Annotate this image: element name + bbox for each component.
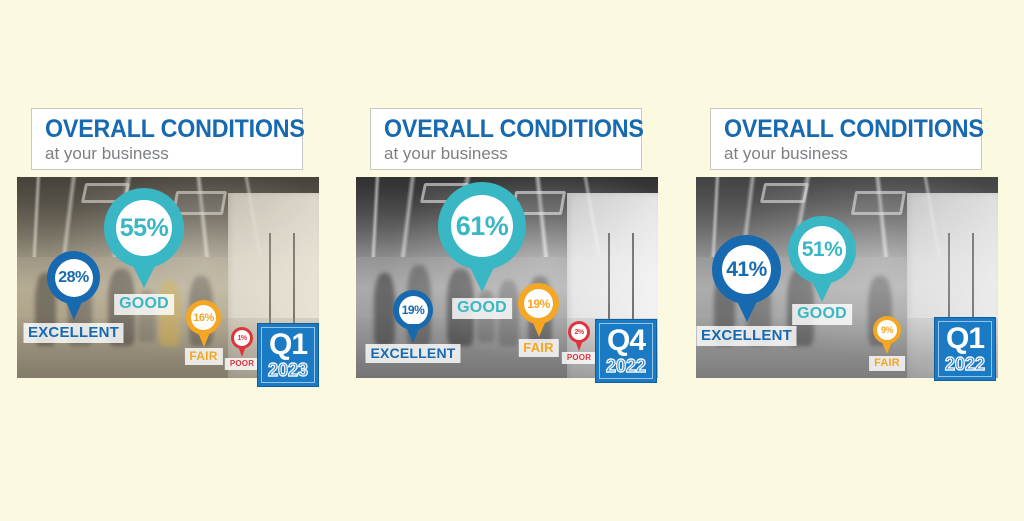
marker-value: 9%: [877, 320, 897, 340]
marker-value: 19%: [399, 296, 428, 325]
pin-bulb: 61%: [438, 182, 526, 270]
marker-label: GOOD: [792, 304, 852, 325]
pin-bulb: 51%: [788, 216, 856, 284]
map-pin-icon: 2%: [568, 321, 590, 343]
quarter-badge-inner: Q1 2022: [938, 321, 992, 377]
pin-tail: [531, 318, 547, 337]
quarter-badge: Q1 2022: [934, 317, 996, 381]
marker-good[interactable]: 61% GOOD: [438, 182, 526, 270]
marker-value: 1%: [234, 330, 250, 346]
year-label: 2023: [268, 361, 308, 379]
quarter-badge-inner: Q4 2022: [599, 323, 653, 379]
panel-q1-2023: OVERALL CONDITIONS at your business 55% …: [16, 108, 336, 393]
marker-value: 19%: [524, 289, 553, 318]
marker-good[interactable]: 55% GOOD: [104, 188, 184, 268]
pin-tail: [881, 340, 893, 354]
quarter-label: Q4: [607, 326, 645, 356]
map-pin-icon: 41%: [712, 235, 781, 304]
marker-label: POOR: [225, 358, 259, 370]
page-subtitle: at your business: [45, 143, 290, 164]
pin-tail: [64, 297, 84, 320]
pin-tail: [809, 275, 835, 302]
marker-label: POOR: [562, 352, 596, 364]
pin-tail: [197, 330, 211, 347]
map-pin-icon: 19%: [518, 283, 559, 324]
map-pin-icon: 55%: [104, 188, 184, 268]
marker-label: FAIR: [184, 348, 222, 365]
marker-excellent[interactable]: 19% EXCELLENT: [393, 290, 433, 330]
panel-title-card: OVERALL CONDITIONS at your business: [710, 108, 982, 170]
marker-fair[interactable]: 16% FAIR: [186, 300, 221, 335]
marker-poor[interactable]: 1% POOR: [231, 327, 253, 349]
pin-tail: [466, 259, 498, 292]
pin-tail: [129, 258, 159, 288]
quarter-badge-inner: Q1 2023: [261, 327, 315, 383]
marker-good[interactable]: 51% GOOD: [788, 216, 856, 284]
marker-value: 28%: [55, 259, 93, 297]
marker-label: EXCELLENT: [23, 323, 124, 343]
page-title: OVERALL CONDITIONS: [45, 116, 273, 142]
marker-label: EXCELLENT: [696, 326, 797, 346]
panel-title-card: OVERALL CONDITIONS at your business: [31, 108, 303, 170]
marker-value: 55%: [116, 200, 172, 256]
marker-excellent[interactable]: 28% EXCELLENT: [47, 251, 100, 304]
marker-poor[interactable]: 2% POOR: [568, 321, 590, 343]
pin-tail: [734, 295, 760, 322]
quarter-badge: Q1 2023: [257, 323, 319, 387]
page-title: OVERALL CONDITIONS: [384, 116, 612, 142]
marker-label: EXCELLENT: [365, 344, 460, 363]
quarter-label: Q1: [269, 330, 307, 360]
pin-tail: [575, 340, 583, 351]
map-pin-icon: 51%: [788, 216, 856, 284]
infographic-canvas: OVERALL CONDITIONS at your business 55% …: [0, 0, 1024, 521]
year-label: 2022: [606, 357, 646, 375]
marker-fair[interactable]: 19% FAIR: [518, 283, 559, 324]
marker-value: 41%: [722, 245, 771, 294]
marker-fair[interactable]: 9% FAIR: [873, 316, 901, 344]
marker-value: 16%: [191, 305, 216, 330]
quarter-label: Q1: [946, 324, 984, 354]
marker-label: FAIR: [869, 356, 905, 371]
quarter-badge: Q4 2022: [595, 319, 657, 383]
marker-label: GOOD: [114, 294, 174, 315]
pin-tail: [405, 324, 421, 343]
pin-bulb: 55%: [104, 188, 184, 268]
map-pin-icon: 1%: [231, 327, 253, 349]
marker-excellent[interactable]: 41% EXCELLENT: [712, 235, 781, 304]
map-pin-icon: 16%: [186, 300, 221, 335]
marker-label: GOOD: [452, 298, 512, 319]
page-title: OVERALL CONDITIONS: [724, 116, 952, 142]
page-subtitle: at your business: [724, 143, 969, 164]
marker-label: FAIR: [518, 339, 558, 357]
panel-title-card: OVERALL CONDITIONS at your business: [370, 108, 642, 170]
pin-bulb: 41%: [712, 235, 781, 304]
marker-value: 2%: [571, 324, 587, 340]
marker-value: 61%: [451, 195, 513, 257]
map-pin-icon: 9%: [873, 316, 901, 344]
page-subtitle: at your business: [384, 143, 629, 164]
marker-value: 51%: [798, 226, 846, 274]
pin-tail: [238, 346, 246, 357]
panel-q1-2022: OVERALL CONDITIONS at your business 51% …: [695, 108, 1015, 393]
map-pin-icon: 28%: [47, 251, 100, 304]
panel-q4-2022: OVERALL CONDITIONS at your business 61% …: [355, 108, 675, 393]
year-label: 2022: [945, 355, 985, 373]
map-pin-icon: 19%: [393, 290, 433, 330]
map-pin-icon: 61%: [438, 182, 526, 270]
